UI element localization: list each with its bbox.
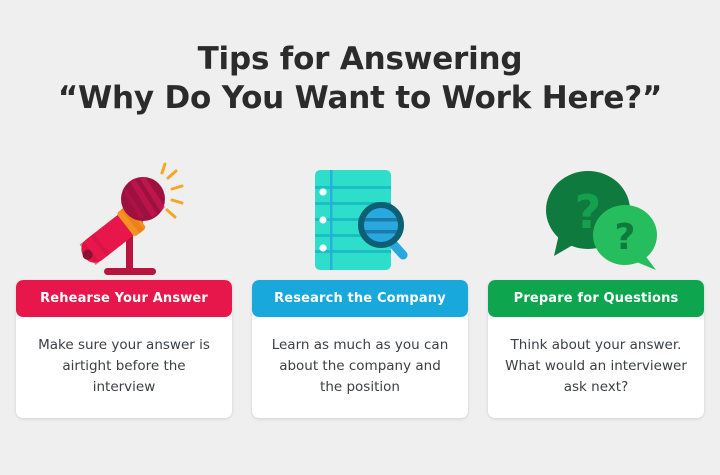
tip-card-prepare[interactable]: Prepare for Questions Think about your a… (488, 280, 704, 418)
card-header-research: Research the Company (252, 280, 468, 317)
page-title: Tips for Answering “Why Do You Want to W… (0, 40, 720, 118)
infographic-page: Tips for Answering “Why Do You Want to W… (0, 0, 720, 475)
title-line-1: Tips for Answering (0, 40, 720, 79)
icon-area-2 (252, 160, 468, 280)
card-body-rehearse: Make sure your answer is airtight before… (16, 317, 232, 418)
microphone-icon (64, 162, 184, 278)
icon-area-3: ? ? (488, 160, 704, 280)
notepad-magnifier-icon (297, 162, 423, 278)
card-header-rehearse: Rehearse Your Answer (16, 280, 232, 317)
tip-card-research[interactable]: Research the Company Learn as much as yo… (252, 280, 468, 418)
tip-card-rehearse[interactable]: Rehearse Your Answer Make sure your answ… (16, 280, 232, 418)
tip-column-prepare: ? ? Prepare for Questions Think about yo… (488, 160, 704, 418)
tip-column-rehearse: Rehearse Your Answer Make sure your answ… (16, 160, 232, 418)
svg-text:?: ? (615, 217, 636, 258)
speech-bubble-small: ? (593, 205, 657, 270)
tips-columns: Rehearse Your Answer Make sure your answ… (16, 160, 704, 418)
title-line-2: “Why Do You Want to Work Here?” (0, 79, 720, 118)
icon-area-1 (16, 160, 232, 280)
tip-column-research: Research the Company Learn as much as yo… (252, 160, 468, 418)
question-speech-bubbles-icon: ? ? (526, 162, 666, 278)
card-body-prepare: Think about your answer. What would an i… (488, 317, 704, 418)
card-body-research: Learn as much as you can about the compa… (252, 317, 468, 418)
card-header-prepare: Prepare for Questions (488, 280, 704, 317)
